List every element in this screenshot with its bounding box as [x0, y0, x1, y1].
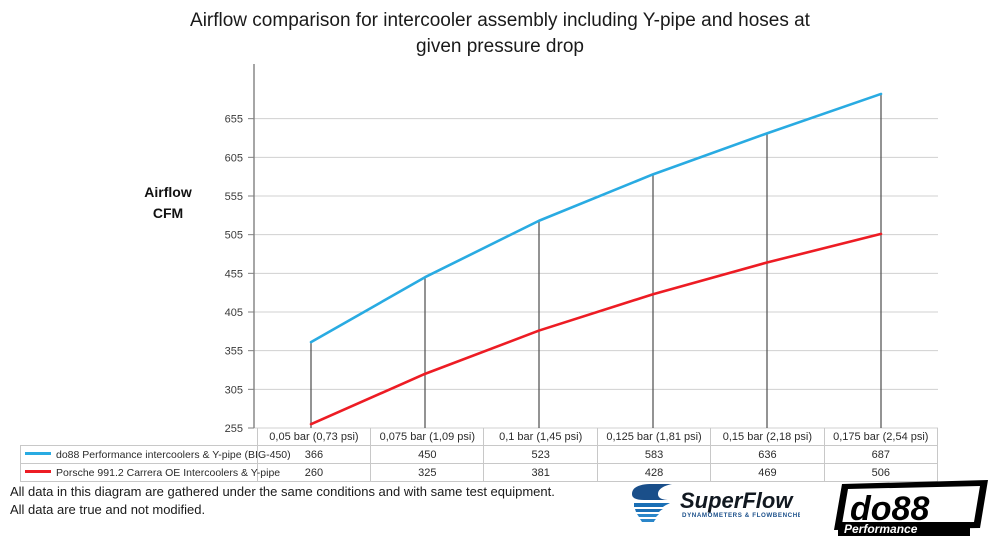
y-tick-label: 655 [225, 114, 243, 126]
superflow-wordmark: SuperFlow [680, 488, 794, 513]
legend-swatch-icon [25, 470, 51, 473]
table-row: do88 Performance intercoolers & Y-pipe (… [21, 446, 938, 464]
value-cell: 523 [484, 446, 597, 464]
category-header-cell: 0,1 bar (1,45 psi) [484, 428, 597, 446]
value-cell: 325 [371, 464, 484, 482]
line-chart-svg: 255305355405455505555605655 [0, 0, 1000, 440]
chart-data-table: 0,05 bar (0,73 psi)0,075 bar (1,09 psi)0… [20, 428, 938, 482]
value-cell: 450 [371, 446, 484, 464]
y-tick-label: 505 [225, 230, 243, 242]
category-header-cell: 0,075 bar (1,09 psi) [371, 428, 484, 446]
table-header-row: 0,05 bar (0,73 psi)0,075 bar (1,09 psi)0… [21, 428, 938, 446]
table-corner-cell [21, 428, 258, 446]
category-header-cell: 0,15 bar (2,18 psi) [711, 428, 824, 446]
plot-area: 255305355405455505555605655 [0, 0, 1000, 440]
do88-tagline: Performance [844, 522, 918, 536]
category-header-cell: 0,125 bar (1,81 psi) [597, 428, 710, 446]
logo-group: SuperFlow DYNAMOMETERS & FLOWBENCHES do8… [628, 478, 993, 540]
y-tick-label: 305 [225, 384, 243, 396]
series-line-1 [311, 94, 881, 342]
legend-label: do88 Performance intercoolers & Y-pipe (… [56, 449, 291, 461]
y-tick-label: 405 [225, 307, 243, 319]
y-tick-label: 455 [225, 268, 243, 280]
legend-entry-2[interactable]: Porsche 991.2 Carrera OE Intercoolers & … [21, 464, 258, 482]
footer-note: All data in this diagram are gathered un… [10, 483, 555, 519]
footer-line-1: All data in this diagram are gathered un… [10, 483, 555, 501]
series-line-2 [311, 234, 881, 424]
do88-logo-svg: do88 Performance [828, 478, 993, 540]
chart-page: Airflow comparison for intercooler assem… [0, 0, 1000, 546]
value-cell: 583 [597, 446, 710, 464]
superflow-tagline: DYNAMOMETERS & FLOWBENCHES [682, 512, 800, 519]
y-tick-label: 355 [225, 346, 243, 358]
y-tick-label: 605 [225, 152, 243, 164]
value-cell: 381 [484, 464, 597, 482]
value-cell: 687 [824, 446, 937, 464]
category-header-cell: 0,05 bar (0,73 psi) [257, 428, 370, 446]
superflow-swoosh-icon [632, 484, 672, 522]
value-cell: 636 [711, 446, 824, 464]
legend-swatch-icon [25, 452, 51, 455]
do88-logo: do88 Performance [828, 478, 993, 540]
superflow-logo: SuperFlow DYNAMOMETERS & FLOWBENCHES [628, 482, 800, 528]
category-header-cell: 0,175 bar (2,54 psi) [824, 428, 937, 446]
legend-label: Porsche 991.2 Carrera OE Intercoolers & … [56, 467, 280, 479]
y-tick-label: 555 [225, 191, 243, 203]
legend-entry-1[interactable]: do88 Performance intercoolers & Y-pipe (… [21, 446, 258, 464]
superflow-logo-svg: SuperFlow DYNAMOMETERS & FLOWBENCHES [628, 482, 800, 528]
footer-line-2: All data are true and not modified. [10, 501, 555, 519]
